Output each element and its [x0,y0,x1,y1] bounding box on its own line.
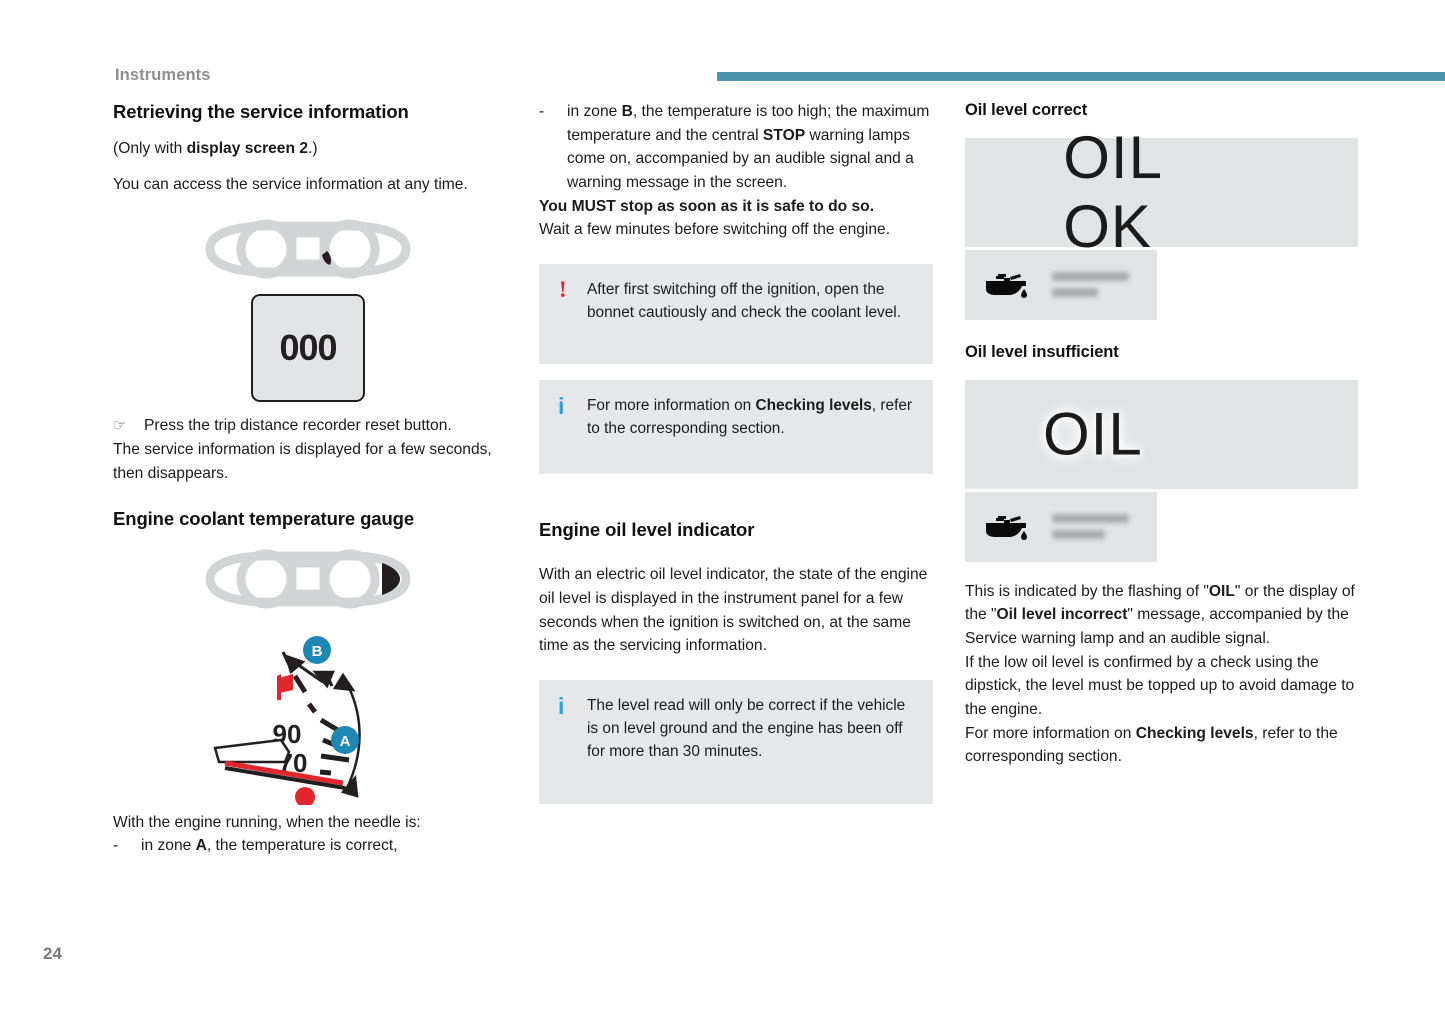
callout-warning-text: After first switching off the ignition, … [587,278,915,346]
press-reset-text: Press the trip distance recorder reset b… [144,414,503,438]
info-i-icon-2: i [554,694,587,786]
only-with-prefix: (Only with [113,140,187,157]
oil-ok-text: OIL OK [1063,123,1260,261]
display-screen-bold: display screen 2 [187,140,308,157]
must-stop-warning: You MUST stop as soon as it is safe to d… [539,195,933,219]
service-info-duration-text: The service information is displayed for… [113,438,503,485]
gauge-red-dot [295,787,315,805]
oil-can-icon [982,272,1030,298]
oil-insufficient-body-1: This is indicated by the flashing of "OI… [965,580,1360,651]
figure-trip-reset: 000 [113,215,503,402]
zone-a-prefix: in zone [141,837,196,854]
zone-b-line3-prefix: central [712,127,763,144]
oil-bold: OIL [1209,583,1235,600]
heading-engine-oil-level-indicator: Engine oil level indicator [539,518,933,541]
only-with-display-screen-note: (Only with display screen 2.) [113,137,503,161]
access-service-info-text: You can access the service information a… [113,173,503,197]
message-correct-line2 [1052,288,1098,297]
trip-counter-value: 000 [279,327,336,369]
zone-b-line1-suffix: , the temperature is too high; [633,103,832,120]
oil-text: OIL [1043,400,1143,469]
gauge-badge-b-label: B [312,643,323,660]
callout-info2-text: The level read will only be correct if t… [587,694,915,786]
display-message-oil-correct: Niveau d'huile correct [965,250,1157,320]
message-correct-line1 [1052,272,1129,281]
zone-a-text: in zone A, the temperature is correct, [141,834,503,858]
heading-oil-level-correct: Oil level correct [965,100,1360,121]
overheat-warning-icon [277,674,293,700]
zone-b-text: in zone B, the temperature is too high; … [567,100,933,195]
zone-b-dash: - [539,100,567,195]
trip-reset-button[interactable]: 000 [251,294,365,402]
zone-b-prefix: in zone [567,103,622,120]
gauge-badge-a-label: A [340,733,351,750]
display-message-oil-incorrect: Niveau d'huile incorrect [965,492,1157,562]
pointing-hand-icon: ☞ [113,414,144,438]
instrument-cluster-icon [200,215,416,285]
message-incorrect-line1 [1052,514,1129,523]
needle-intro-text: With the engine running, when the needle… [113,811,503,835]
oil-insufficient-body-3: For more information on Checking levels,… [965,722,1360,769]
oil-indicator-body-text: With an electric oil level indicator, th… [539,563,933,658]
header-rule [717,72,1445,81]
callout-info1-prefix: For more information on [587,397,756,414]
press-reset-instruction: ☞ Press the trip distance recorder reset… [113,414,503,438]
zone-a-suffix: , the temperature is correct, [207,837,398,854]
oil-level-incorrect-bold: Oil level incorrect [997,606,1128,623]
wait-few-minutes-text: Wait a few minutes before switching off … [539,218,933,242]
stop-warning-bold: STOP [763,127,805,144]
message-incorrect-line2 [1052,530,1105,539]
zone-b-line4: accompanied by an audible signal and a [636,150,914,167]
callout-info-level-read: i The level read will only be correct if… [539,680,933,804]
column-middle: - in zone B, the temperature is too high… [539,100,933,804]
heading-oil-level-insufficient: Oil level insufficient [965,342,1360,363]
coolant-gauge-diagram: 90 70 [193,620,423,805]
callout-warning-coolant: ! After first switching off the ignition… [539,264,933,364]
info-i-icon: i [554,394,587,456]
column-right: Oil level correct OIL OK Niveau d'huile … [965,100,1360,769]
page-header: Instruments [0,0,1445,100]
only-with-suffix: .) [308,140,318,157]
heading-engine-coolant-temperature-gauge: Engine coolant temperature gauge [113,507,503,530]
figure-coolant-gauge: 90 70 [113,545,503,805]
zone-a-letter: A [196,837,207,854]
column-left: Retrieving the service information (Only… [113,100,503,858]
zone-a-item: - in zone A, the temperature is correct, [113,834,503,858]
display-screen-oil: OIL [965,380,1358,489]
body-l1-prefix: This is indicated by the flashing of " [965,583,1209,600]
page-number: 24 [43,944,62,964]
heading-retrieving-service-information: Retrieving the service information [113,100,503,123]
checking-levels-bold-2: Checking levels [1136,725,1254,742]
callout-info1-text: For more information on Checking levels,… [587,394,915,456]
zone-b-item: - in zone B, the temperature is too high… [539,100,933,195]
zone-b-letter: B [622,103,633,120]
oil-can-icon-2 [982,514,1030,540]
section-title: Instruments [115,66,211,85]
oil-insufficient-body-2: If the low oil level is confirmed by a c… [965,651,1360,722]
display-screen-oil-ok: OIL OK [965,138,1358,247]
body-l3-prefix: For more information on [965,725,1136,742]
warning-exclamation-icon: ! [554,278,587,346]
instrument-cluster-icon-2 [200,545,416,615]
checking-levels-bold: Checking levels [756,397,872,414]
callout-info-checking-levels: i For more information on Checking level… [539,380,933,474]
zone-b-line5: warning message in the screen. [567,174,787,191]
zone-a-dash: - [113,834,141,858]
